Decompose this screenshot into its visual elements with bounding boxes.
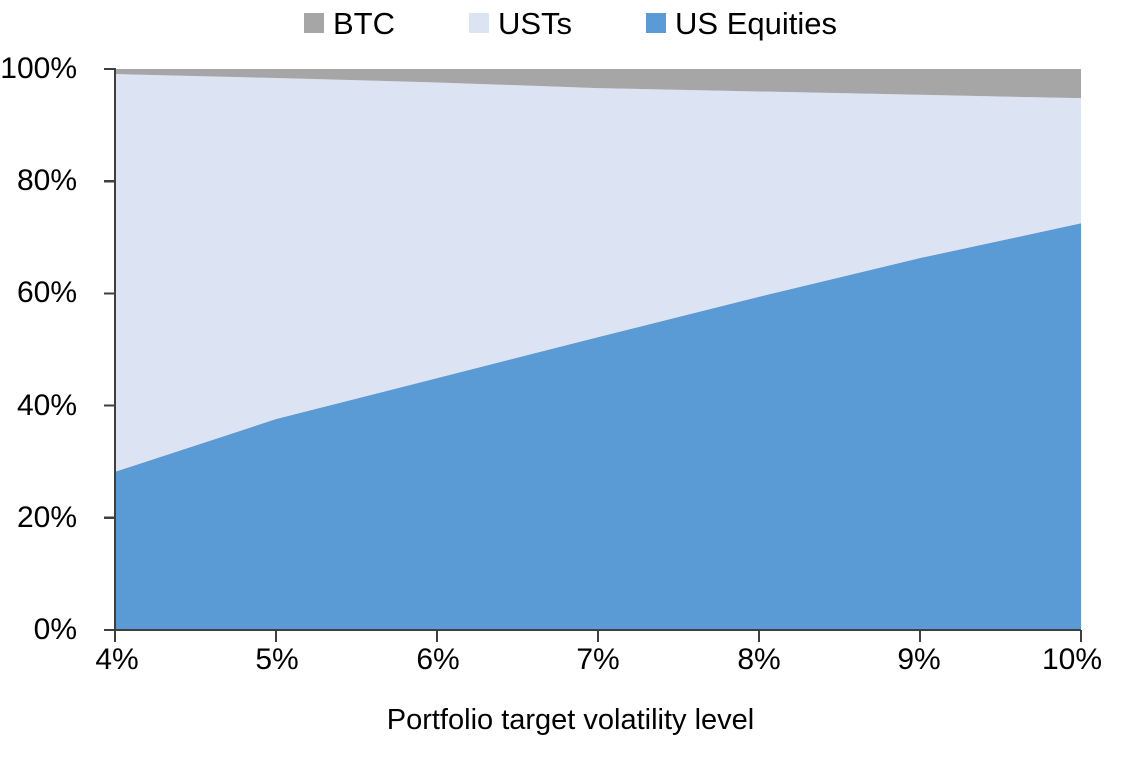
x-tick-label: 9% xyxy=(897,645,940,675)
y-tick-label: 40% xyxy=(17,391,77,421)
x-tick-label: 6% xyxy=(416,645,459,675)
y-tick-label: 60% xyxy=(17,278,77,308)
x-tick-label: 7% xyxy=(576,645,619,675)
y-tick-label: 0% xyxy=(34,615,77,645)
series-layer xyxy=(115,69,1081,630)
y-tick-label: 80% xyxy=(17,166,77,196)
chart-container: BTC USTs US Equities 100% 80% 60% 40% 20… xyxy=(0,0,1141,763)
x-axis-title: Portfolio target volatility level xyxy=(0,706,1141,735)
stacked-area-plot xyxy=(0,0,1141,763)
y-tick-label: 20% xyxy=(17,503,77,533)
x-tick-label: 5% xyxy=(255,645,298,675)
x-tick-label: 4% xyxy=(95,645,138,675)
x-tick-label: 10% xyxy=(1042,645,1102,675)
plot-area: 100% 80% 60% 40% 20% 0% 4% 5% 6% 7% 8% 9… xyxy=(0,0,1141,763)
x-tick-label: 8% xyxy=(737,645,780,675)
y-tick-label: 100% xyxy=(0,54,77,84)
